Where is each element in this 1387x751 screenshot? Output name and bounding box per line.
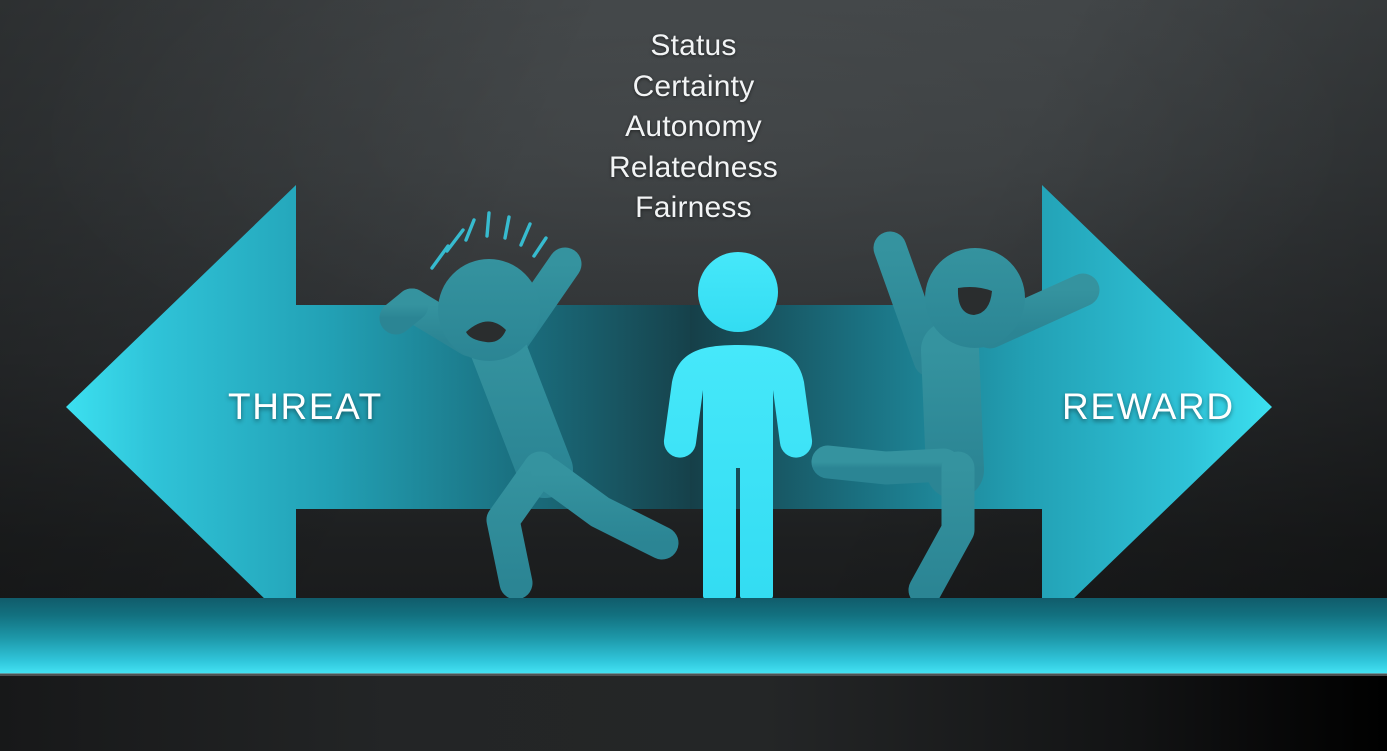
- neutral-person-figure: [664, 252, 812, 599]
- distressed-person-figure: [396, 213, 662, 583]
- joyful-head: [925, 248, 1025, 348]
- cyan-accent-band: [0, 598, 1387, 674]
- joyful-person-figure: [828, 248, 1083, 590]
- reward-label: REWARD: [1062, 386, 1235, 428]
- slide-canvas: Status Certainty Autonomy Relatedness Fa…: [0, 0, 1387, 751]
- smile-mouth-icon: [958, 287, 992, 315]
- center-body: [664, 345, 812, 599]
- scarf-word-relatedness: Relatedness: [0, 148, 1387, 189]
- frown-mouth-icon: [466, 321, 506, 342]
- distressed-head: [438, 259, 540, 361]
- scarf-word-list: Status Certainty Autonomy Relatedness Fa…: [0, 26, 1387, 229]
- scarf-word-autonomy: Autonomy: [0, 107, 1387, 148]
- threat-label: THREAT: [228, 386, 383, 428]
- threat-arrow: [66, 185, 700, 629]
- center-head: [698, 252, 778, 332]
- scarf-word-fairness: Fairness: [0, 188, 1387, 229]
- scarf-word-certainty: Certainty: [0, 67, 1387, 108]
- footer-bar: SCARF MODEL|David Rock MODELTHINKERS.com: [0, 676, 1387, 751]
- scarf-word-status: Status: [0, 26, 1387, 67]
